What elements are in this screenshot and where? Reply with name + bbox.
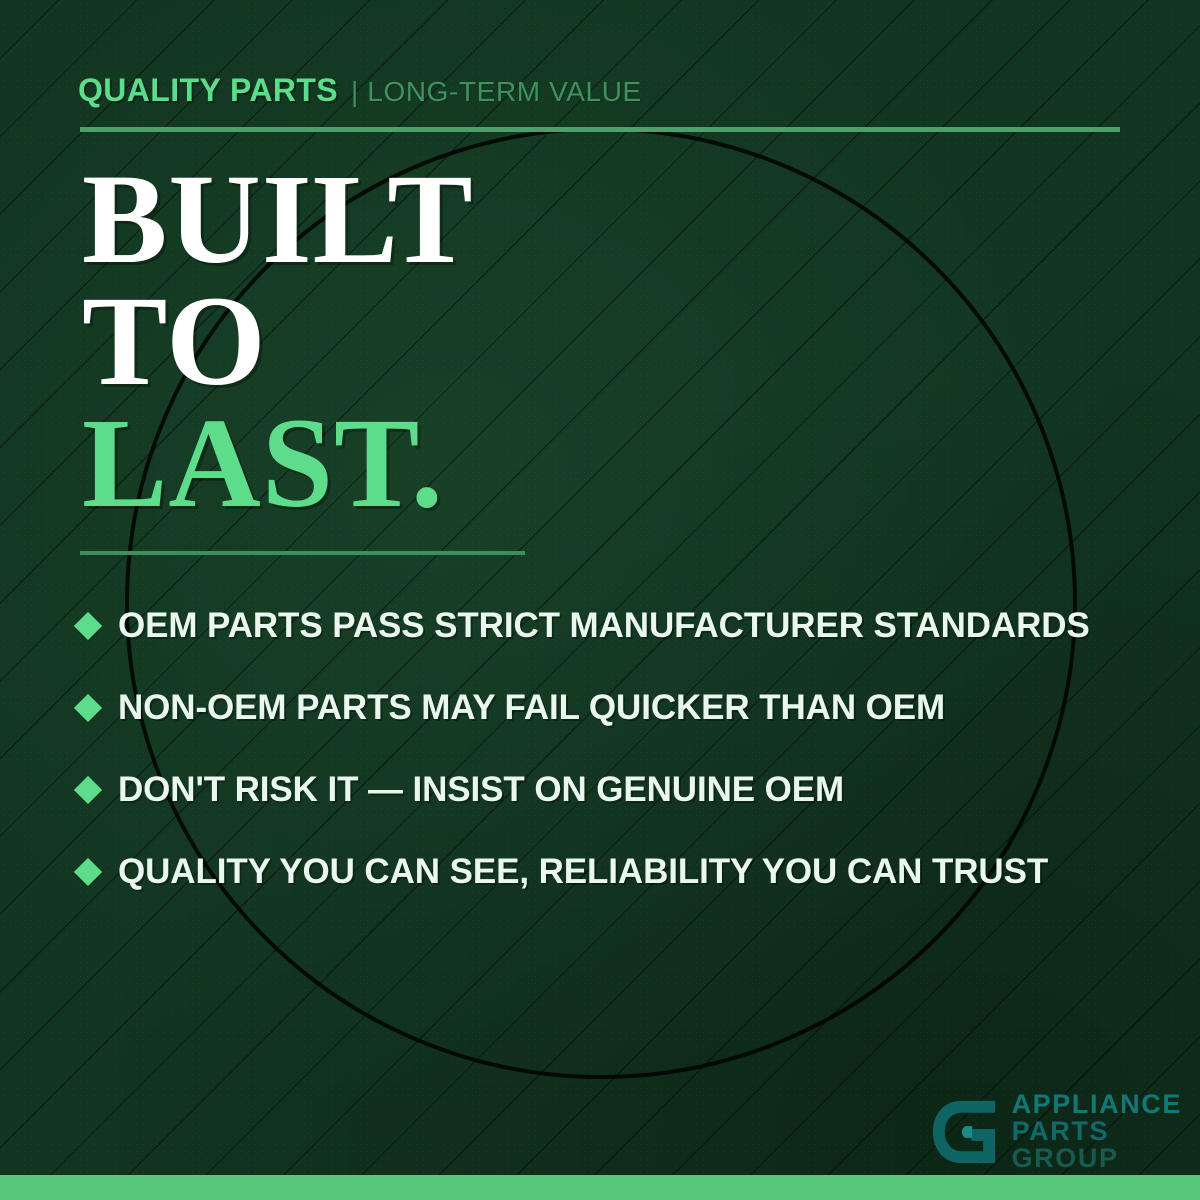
brand-word-line-3: GROUP <box>1012 1145 1182 1172</box>
bullet-list: OEM PARTS PASS STRICT MANUFACTURER STAND… <box>78 585 1158 913</box>
brand-word-line-1: APPLIANCE <box>1012 1091 1182 1118</box>
headline-divider-rule <box>80 551 525 555</box>
brand-wordmark: APPLIANCE PARTS GROUP <box>1012 1091 1182 1172</box>
list-item-label: QUALITY YOU CAN SEE, RELIABILITY YOU CAN… <box>118 852 1048 892</box>
headline-line-1: BUILT <box>82 158 474 280</box>
eyebrow-sub-label: | LONG-TERM VALUE <box>351 76 642 108</box>
brand-logo: APPLIANCE PARTS GROUP <box>927 1091 1182 1172</box>
diamond-bullet-icon <box>74 612 102 640</box>
list-item-label: NON-OEM PARTS MAY FAIL QUICKER THAN OEM <box>118 688 945 728</box>
eyebrow-main-label: QUALITY PARTS <box>78 72 338 109</box>
brand-word-line-2: PARTS <box>1012 1118 1182 1145</box>
list-item-label: DON'T RISK IT — INSIST ON GENUINE OEM <box>118 770 844 810</box>
eyebrow-header: QUALITY PARTS | LONG-TERM VALUE <box>78 72 642 109</box>
poster-content: QUALITY PARTS | LONG-TERM VALUE BUILT TO… <box>0 0 1200 1200</box>
g-monogram-icon <box>927 1095 1001 1169</box>
list-item-label: OEM PARTS PASS STRICT MANUFACTURER STAND… <box>118 606 1090 646</box>
promo-poster: QUALITY PARTS | LONG-TERM VALUE BUILT TO… <box>0 0 1200 1200</box>
header-divider-rule <box>80 127 1120 132</box>
list-item: NON-OEM PARTS MAY FAIL QUICKER THAN OEM <box>78 667 1158 749</box>
diamond-bullet-icon <box>74 694 102 722</box>
bottom-accent-bar <box>0 1175 1200 1200</box>
list-item: DON'T RISK IT — INSIST ON GENUINE OEM <box>78 749 1158 831</box>
diamond-bullet-icon <box>74 858 102 886</box>
headline-line-3-accent: LAST. <box>82 402 474 524</box>
list-item: OEM PARTS PASS STRICT MANUFACTURER STAND… <box>78 585 1158 667</box>
headline-line-2: TO <box>82 280 474 402</box>
list-item: QUALITY YOU CAN SEE, RELIABILITY YOU CAN… <box>78 831 1158 913</box>
headline: BUILT TO LAST. <box>82 158 474 525</box>
diamond-bullet-icon <box>74 776 102 804</box>
